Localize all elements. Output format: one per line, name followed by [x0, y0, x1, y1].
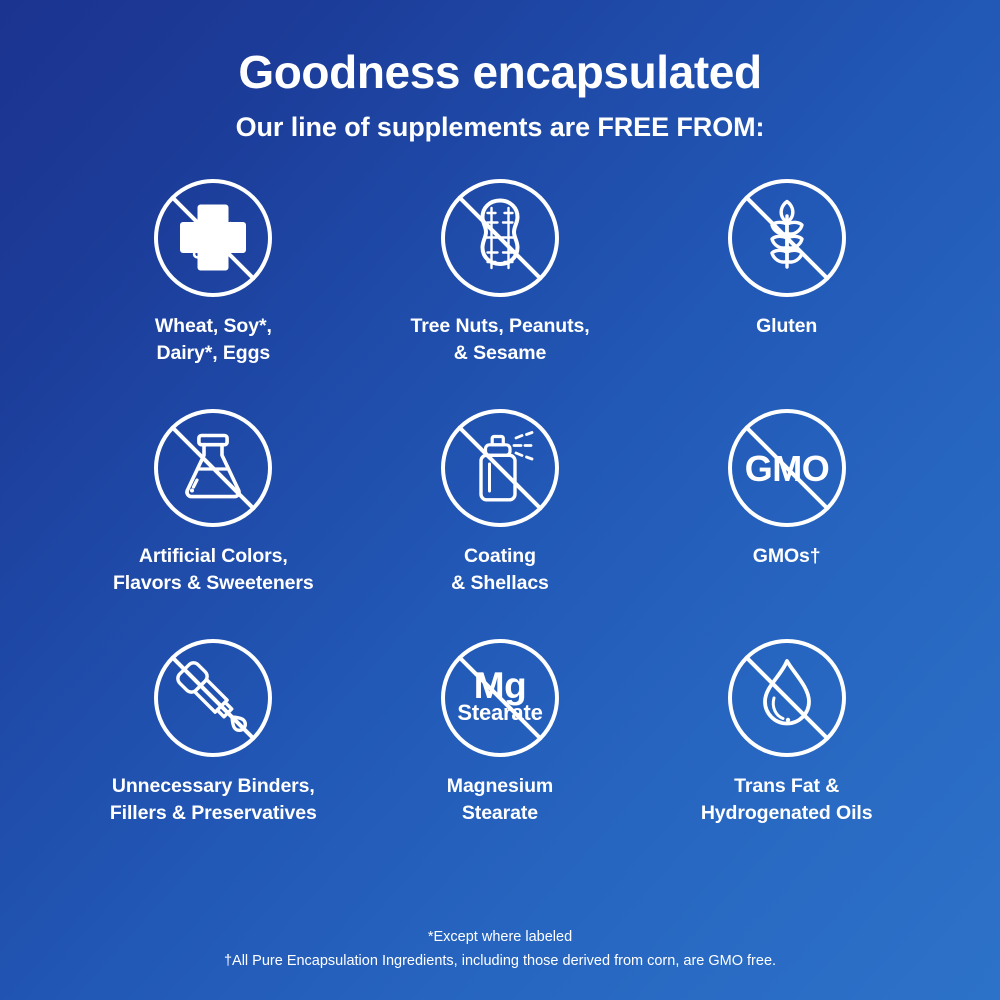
poster-root: Goodness encapsulated Our line of supple… [0, 0, 1000, 1000]
grid-item-label: Trans Fat & Hydrogenated Oils [701, 773, 873, 828]
grid-item-label: Gluten [756, 313, 817, 341]
footnote-asterisk: *Except where labeled [0, 926, 1000, 949]
grid-item: Coating & Shellacs [357, 405, 644, 635]
gmo-text: GMO [744, 448, 829, 489]
grid-item-label: GMOs† [753, 543, 821, 571]
page-title: Goodness encapsulated [0, 47, 1000, 99]
grid-item: Gluten [643, 175, 930, 405]
no-wheat-stalk-icon [724, 175, 850, 301]
grid-item-label: Unnecessary Binders, Fillers & Preservat… [110, 773, 317, 828]
no-magnesium-stearate-icon: Mg Stearate [437, 635, 563, 761]
no-chemical-flask-icon [150, 405, 276, 531]
grid-item: Unnecessary Binders, Fillers & Preservat… [70, 635, 357, 865]
grid-item-label: Artificial Colors, Flavors & Sweeteners [113, 543, 314, 598]
footnote-dagger: †All Pure Encapsulation Ingredients, inc… [0, 950, 1000, 973]
stearate-text: Stearate [457, 700, 542, 725]
grid-item: Tree Nuts, Peanuts, & Sesame [357, 175, 644, 405]
grid-item-label: Tree Nuts, Peanuts, & Sesame [410, 313, 589, 368]
free-from-grid: Wheat, Soy*, Dairy*, Eggs [70, 175, 930, 865]
grid-item: Artificial Colors, Flavors & Sweeteners [70, 405, 357, 635]
no-spray-can-icon [437, 405, 563, 531]
no-oil-droplet-icon [724, 635, 850, 761]
no-peanut-icon [437, 175, 563, 301]
no-gmo-icon: GMO [724, 405, 850, 531]
no-allergen-cross-fork-icon [150, 175, 276, 301]
page-subtitle: Our line of supplements are FREE FROM: [0, 112, 1000, 143]
footnotes: *Except where labeled †All Pure Encapsul… [0, 926, 1000, 973]
grid-item: GMO GMOs† [643, 405, 930, 635]
grid-item-label: Coating & Shellacs [451, 543, 549, 598]
grid-item-label: Wheat, Soy*, Dairy*, Eggs [155, 313, 272, 368]
grid-item: Mg Stearate Magnesium Stearate [357, 635, 644, 865]
grid-item-label: Magnesium Stearate [447, 773, 553, 828]
header: Goodness encapsulated Our line of supple… [0, 0, 1000, 143]
no-dropper-pipette-icon [150, 635, 276, 761]
grid-item: Trans Fat & Hydrogenated Oils [643, 635, 930, 865]
grid-item: Wheat, Soy*, Dairy*, Eggs [70, 175, 357, 405]
